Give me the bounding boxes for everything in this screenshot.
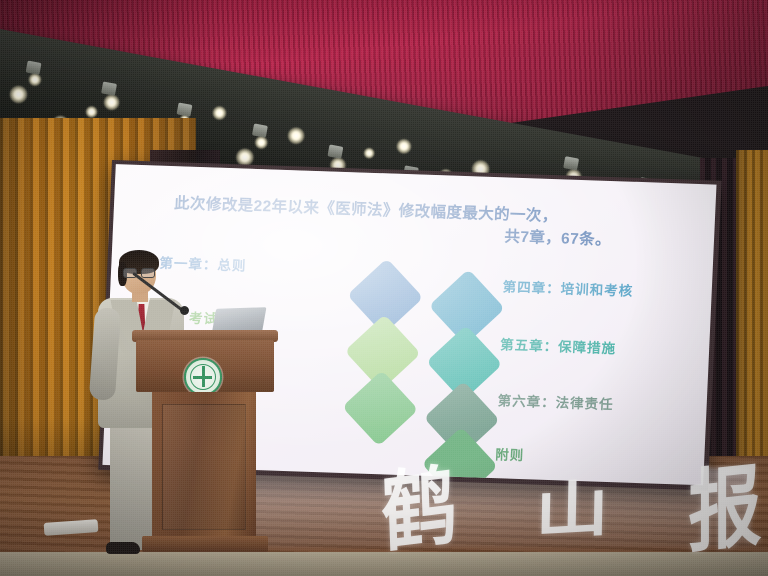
photo-scene: 此次修改是22年以来《医师法》修改幅度最大的一次， 共7章，67条。 第一章：总…: [0, 0, 768, 576]
medical-emblem-icon: [184, 358, 222, 396]
chapter-label-right-2: 第五章：保障措施: [500, 333, 617, 357]
light-fixture: [252, 123, 268, 137]
emblem-inner-ring: [190, 364, 216, 390]
podium-base: [142, 536, 268, 552]
light-fixture: [563, 156, 579, 170]
microphone-head: [180, 306, 189, 315]
light-fixture: [327, 144, 343, 158]
speaker-shoe: [106, 542, 140, 554]
chapter-label-right-4: 附则: [495, 443, 525, 464]
stage-front-edge: [0, 552, 768, 576]
chapter-label-right-1: 第四章：培训和考核: [502, 275, 633, 299]
light-fixture: [26, 61, 42, 75]
chapter-label-right-3: 第六章：法律责任: [497, 389, 614, 413]
lectern-podium: [140, 330, 270, 556]
podium-inset-panel: [162, 404, 246, 530]
light-fixture: [101, 82, 117, 96]
microphone: [134, 272, 204, 334]
light-fixture: [177, 102, 193, 116]
power-strip: [44, 519, 99, 536]
podium-front-panel: [136, 340, 274, 392]
microphone-stem: [132, 272, 183, 311]
